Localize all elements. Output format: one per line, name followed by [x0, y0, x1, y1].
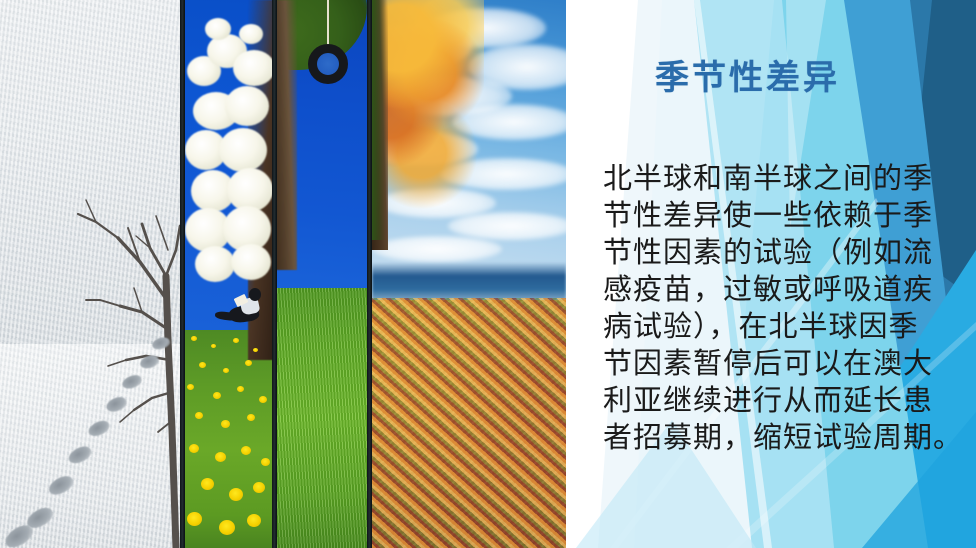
photo-divider-3 — [367, 0, 372, 548]
body-line: 感疫苗，过敏或呼吸道疾 — [603, 271, 951, 308]
autumn-tree-canopy — [372, 0, 484, 230]
winter-footprints — [0, 330, 180, 548]
photo-divider-2 — [272, 0, 277, 548]
slide: 季节性差异 北半球和南半球之间的季 节性差异使一些依赖于季 节性因素的试验（例如… — [0, 0, 976, 548]
tire-swing — [308, 44, 348, 84]
body-line: 者招募期，缩短试验周期。 — [603, 419, 951, 456]
photo-panel-spring — [185, 0, 272, 548]
slide-body-text: 北半球和南半球之间的季 节性差异使一些依赖于季 节性因素的试验（例如流 感疫苗，… — [603, 160, 951, 456]
photo-divider-1 — [180, 0, 185, 548]
four-seasons-photo — [0, 0, 566, 548]
body-line: 病试验），在北半球因季 — [603, 308, 951, 345]
autumn-left-green-edge — [372, 0, 386, 240]
body-line: 节性因素的试验（例如流 — [603, 234, 951, 271]
body-line: 节因素暂停后可以在澳大 — [603, 345, 951, 382]
photo-panel-winter — [0, 0, 180, 548]
photo-panel-summer — [277, 0, 367, 548]
body-line: 利亚继续进行从而延长患 — [603, 382, 951, 419]
photo-panel-autumn — [372, 0, 566, 548]
autumn-leaf-texture — [372, 298, 566, 548]
summer-tree-trunk — [277, 0, 297, 270]
slide-title: 季节性差异 — [655, 56, 915, 100]
body-line: 北半球和南半球之间的季 — [603, 160, 951, 197]
body-line: 节性差异使一些依赖于季 — [603, 197, 951, 234]
summer-grass-blades — [277, 288, 367, 548]
swing-rope — [327, 0, 329, 50]
